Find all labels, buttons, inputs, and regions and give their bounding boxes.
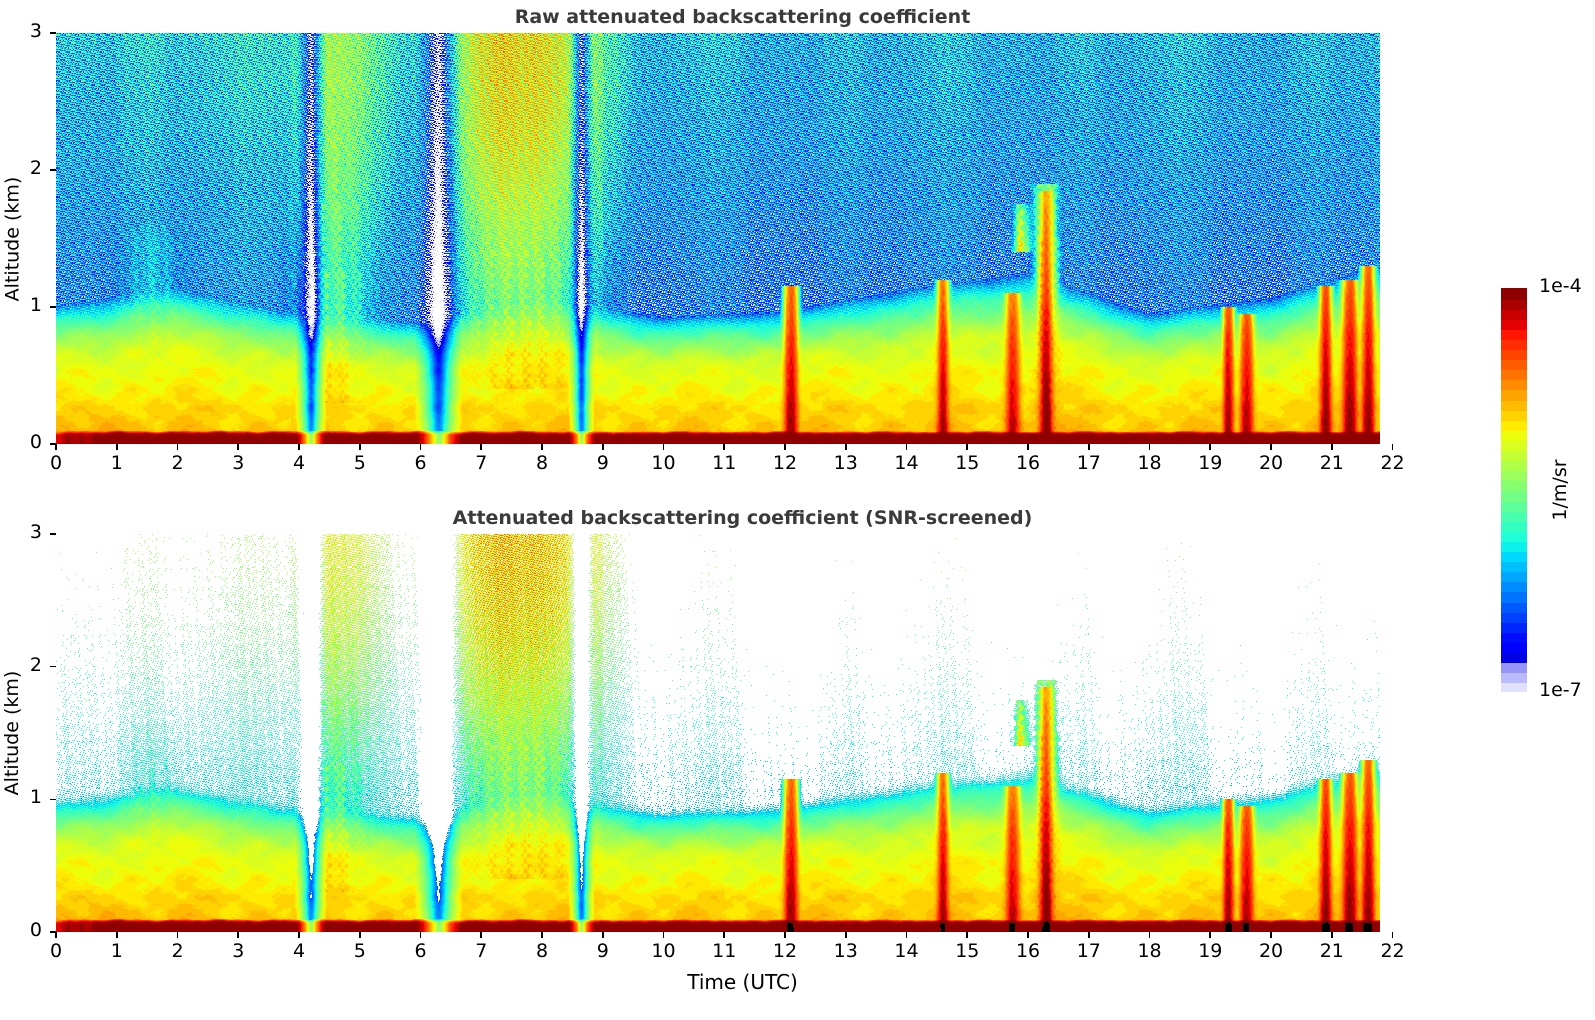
x-tick-label: 17 (1059, 940, 1119, 962)
x-tick-label: 21 (1302, 452, 1362, 474)
x-tick-label: 8 (512, 452, 572, 474)
y-tick-mark (50, 169, 56, 171)
x-tick-mark (845, 444, 847, 450)
x-tick-mark (723, 444, 725, 450)
y-axis-title-screened: Altitude (km) (0, 534, 25, 932)
x-tick-mark (55, 444, 57, 450)
x-tick-mark (359, 932, 361, 938)
y-tick-label: 2 (0, 654, 42, 676)
x-tick-mark (177, 444, 179, 450)
x-tick-mark (602, 444, 604, 450)
y-tick-label: 0 (0, 919, 42, 941)
x-tick-label: 11 (694, 940, 754, 962)
x-tick-mark (298, 444, 300, 450)
x-tick-mark (116, 444, 118, 450)
x-tick-label: 8 (512, 940, 572, 962)
x-tick-mark (966, 932, 968, 938)
x-tick-label: 11 (694, 452, 754, 474)
x-tick-label: 22 (1363, 940, 1423, 962)
y-tick-label: 0 (0, 431, 42, 453)
figure-root: Raw attenuated backscattering coefficien… (0, 0, 1595, 1020)
x-tick-mark (1209, 932, 1211, 938)
x-tick-mark (1027, 932, 1029, 938)
x-tick-label: 0 (26, 452, 86, 474)
x-tick-mark (906, 444, 908, 450)
x-tick-mark (1392, 932, 1394, 938)
x-tick-mark (237, 444, 239, 450)
x-tick-label: 20 (1241, 940, 1301, 962)
x-tick-mark (602, 932, 604, 938)
x-tick-mark (1331, 932, 1333, 938)
x-tick-mark (845, 932, 847, 938)
heatmap-raw (56, 33, 1429, 444)
x-tick-label: 12 (755, 940, 815, 962)
x-tick-label: 6 (391, 452, 451, 474)
y-tick-mark (50, 306, 56, 308)
x-tick-label: 19 (1180, 940, 1240, 962)
x-tick-mark (1088, 932, 1090, 938)
panel-title-raw: Raw attenuated backscattering coefficien… (56, 6, 1429, 28)
x-tick-mark (1209, 444, 1211, 450)
x-tick-mark (723, 932, 725, 938)
y-axis-title-raw: Altitude (km) (0, 33, 25, 444)
y-tick-mark (50, 931, 56, 933)
y-tick-mark (50, 666, 56, 668)
y-tick-label: 1 (0, 294, 42, 316)
x-tick-label: 6 (391, 940, 451, 962)
x-tick-mark (116, 932, 118, 938)
x-tick-label: 15 (937, 452, 997, 474)
x-tick-mark (906, 932, 908, 938)
colorbar-max-label: 1e-4 (1539, 275, 1582, 297)
x-tick-mark (1270, 932, 1272, 938)
x-tick-mark (663, 444, 665, 450)
x-tick-label: 21 (1302, 940, 1362, 962)
x-tick-label: 10 (634, 452, 694, 474)
x-tick-mark (177, 932, 179, 938)
x-tick-label: 4 (269, 452, 329, 474)
y-tick-label: 2 (0, 157, 42, 179)
x-tick-label: 9 (573, 940, 633, 962)
x-tick-label: 17 (1059, 452, 1119, 474)
x-tick-label: 14 (877, 452, 937, 474)
y-tick-mark (50, 443, 56, 445)
x-tick-mark (1392, 444, 1394, 450)
panel-title-screened: Attenuated backscattering coefficient (S… (56, 507, 1429, 529)
x-tick-mark (298, 932, 300, 938)
x-tick-label: 18 (1120, 940, 1180, 962)
x-tick-mark (1088, 444, 1090, 450)
x-tick-mark (1149, 932, 1151, 938)
x-tick-mark (541, 932, 543, 938)
y-tick-mark (50, 799, 56, 801)
x-tick-label: 4 (269, 940, 329, 962)
x-tick-label: 19 (1180, 452, 1240, 474)
x-tick-label: 10 (634, 940, 694, 962)
x-tick-mark (359, 444, 361, 450)
x-tick-label: 15 (937, 940, 997, 962)
x-tick-mark (480, 444, 482, 450)
y-tick-label: 3 (0, 20, 42, 42)
colorbar-unit-label: 1/m/sr (1547, 410, 1573, 570)
x-tick-mark (966, 444, 968, 450)
x-tick-mark (541, 444, 543, 450)
x-tick-label: 9 (573, 452, 633, 474)
x-tick-label: 20 (1241, 452, 1301, 474)
x-tick-mark (784, 444, 786, 450)
x-tick-label: 3 (208, 452, 268, 474)
x-tick-mark (1270, 444, 1272, 450)
x-axis-title: Time (UTC) (56, 970, 1429, 994)
x-tick-label: 5 (330, 452, 390, 474)
x-tick-label: 1 (87, 452, 147, 474)
x-tick-label: 14 (877, 940, 937, 962)
x-tick-label: 1 (87, 940, 147, 962)
x-tick-mark (1149, 444, 1151, 450)
x-tick-mark (55, 932, 57, 938)
y-tick-mark (50, 533, 56, 535)
y-tick-label: 1 (0, 786, 42, 808)
x-tick-mark (480, 932, 482, 938)
x-tick-label: 3 (208, 940, 268, 962)
x-tick-label: 12 (755, 452, 815, 474)
x-tick-mark (663, 932, 665, 938)
x-tick-label: 5 (330, 940, 390, 962)
x-tick-label: 0 (26, 940, 86, 962)
x-tick-label: 2 (148, 940, 208, 962)
x-tick-mark (237, 932, 239, 938)
x-tick-label: 7 (451, 452, 511, 474)
x-tick-label: 13 (816, 452, 876, 474)
x-tick-label: 16 (998, 452, 1058, 474)
colorbar-min-label: 1e-7 (1539, 679, 1582, 701)
x-tick-label: 13 (816, 940, 876, 962)
x-tick-mark (420, 932, 422, 938)
x-tick-mark (420, 444, 422, 450)
heatmap-screened (56, 534, 1429, 932)
x-tick-mark (1027, 444, 1029, 450)
x-tick-label: 2 (148, 452, 208, 474)
x-tick-mark (784, 932, 786, 938)
y-tick-mark (50, 32, 56, 34)
x-tick-label: 18 (1120, 452, 1180, 474)
x-tick-label: 7 (451, 940, 511, 962)
x-tick-mark (1331, 444, 1333, 450)
y-tick-label: 3 (0, 521, 42, 543)
x-tick-label: 16 (998, 940, 1058, 962)
x-tick-label: 22 (1363, 452, 1423, 474)
colorbar-gradient (1501, 288, 1527, 692)
